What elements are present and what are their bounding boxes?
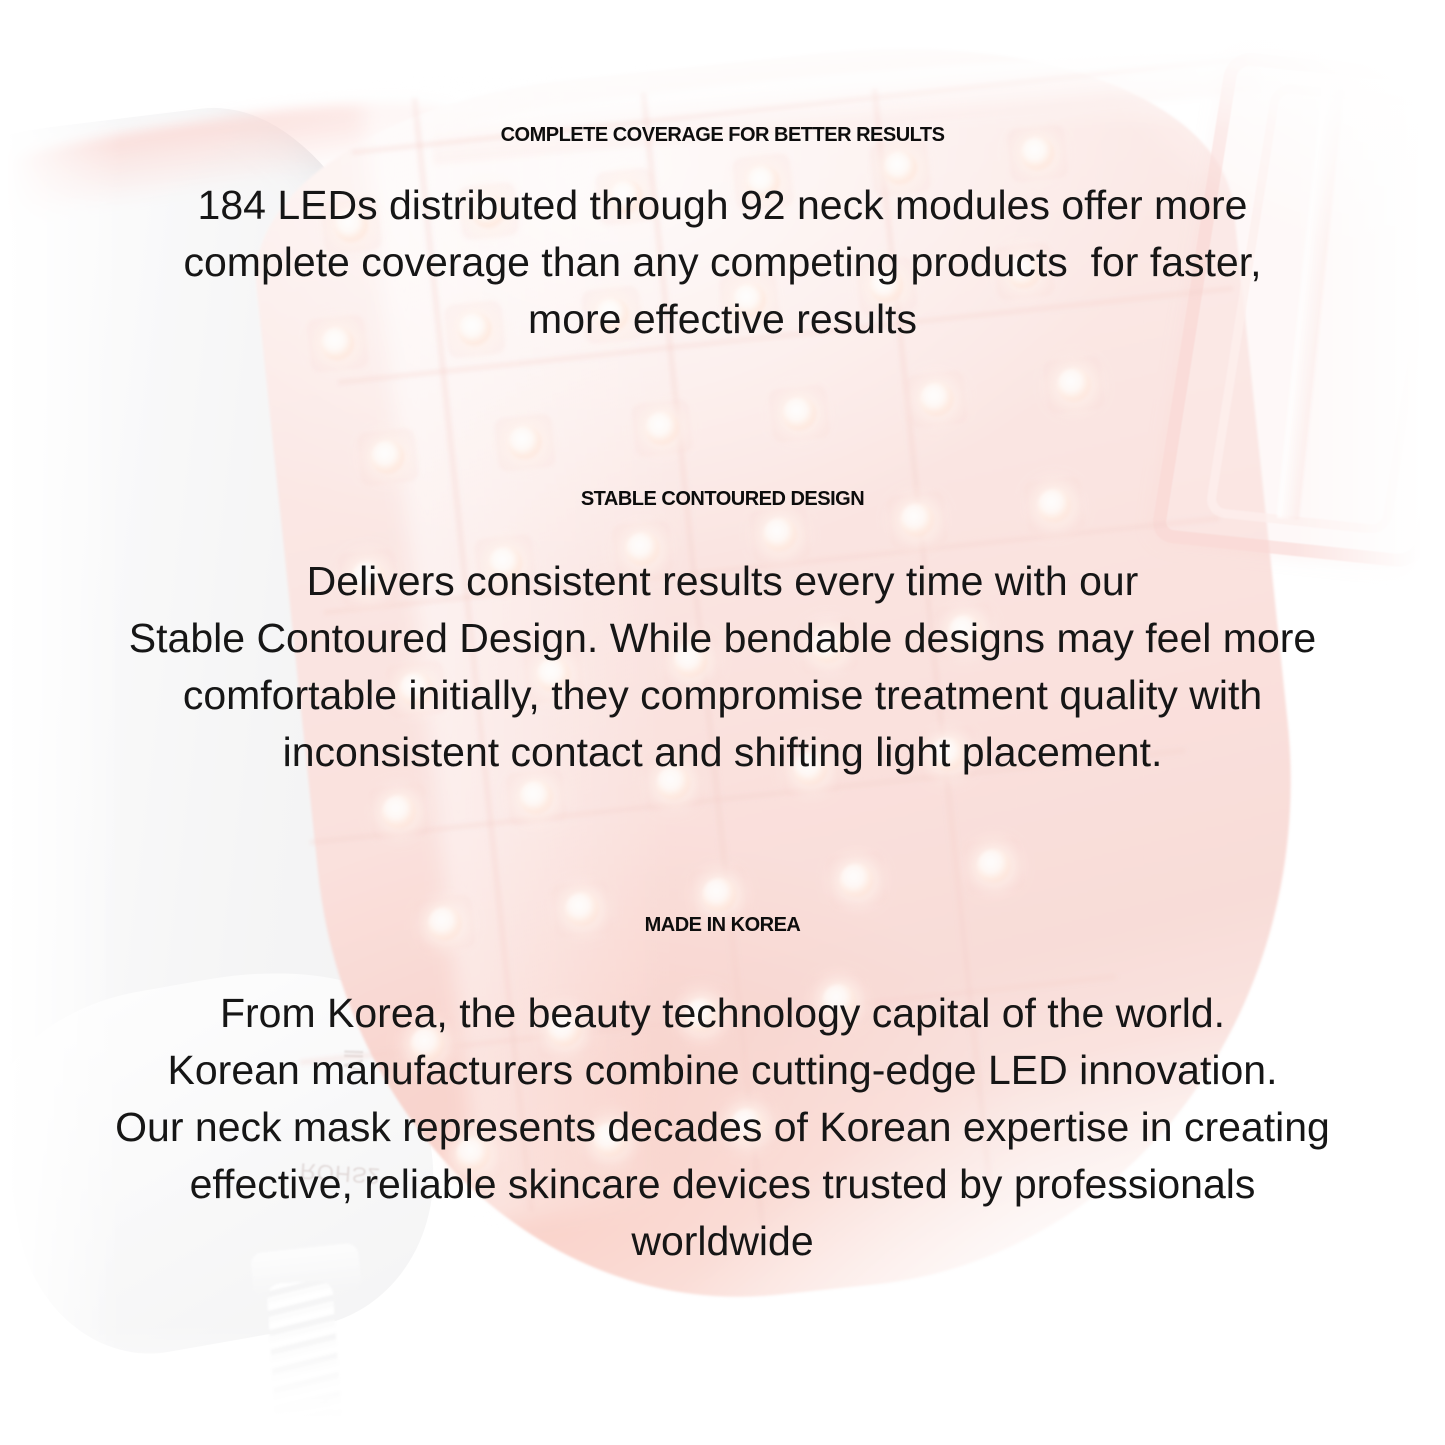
- body-stable-contoured-design: Delivers consistent results every time w…: [0, 553, 1445, 781]
- infographic-content: COMPLETE COVERAGE FOR BETTER RESULTS 184…: [0, 0, 1445, 1445]
- body-complete-coverage: 184 LEDs distributed through 92 neck mod…: [0, 177, 1445, 348]
- infographic-canvas: ≧ ROHS2 COMPLETE COVERAGE FOR BETTER RES…: [0, 0, 1445, 1445]
- heading-complete-coverage: COMPLETE COVERAGE FOR BETTER RESULTS: [0, 125, 1445, 146]
- heading-made-in-korea: MADE IN KOREA: [0, 915, 1445, 936]
- body-made-in-korea: From Korea, the beauty technology capita…: [0, 985, 1445, 1270]
- section-made-in-korea: MADE IN KOREA From Korea, the beauty tec…: [0, 898, 1445, 1311]
- heading-stable-contoured-design: STABLE CONTOURED DESIGN: [0, 489, 1445, 510]
- section-stable-contoured-design: STABLE CONTOURED DESIGN Delivers consist…: [0, 472, 1445, 822]
- section-complete-coverage: COMPLETE COVERAGE FOR BETTER RESULTS 184…: [0, 108, 1445, 389]
